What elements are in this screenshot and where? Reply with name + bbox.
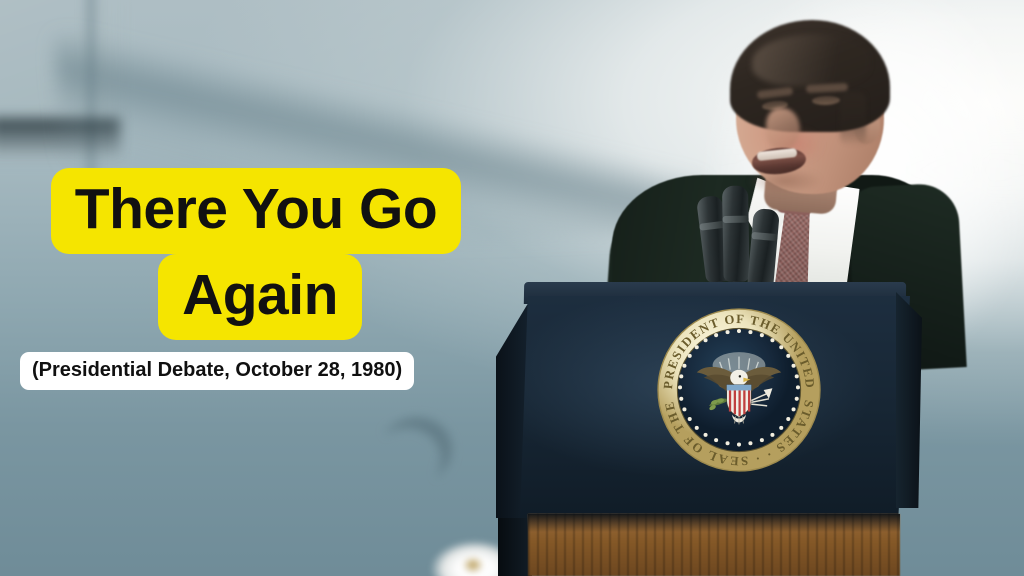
quote-title-line-1: There You Go xyxy=(51,168,461,254)
presidential-seal-icon: PRESIDENT OF THE UNITED STATES · · SEAL … xyxy=(651,302,827,478)
hair-highlight xyxy=(752,34,870,86)
microphone-ring xyxy=(723,216,749,223)
microphone-body xyxy=(722,186,750,282)
quote-attribution: (Presidential Debate, October 28, 1980) xyxy=(20,352,414,390)
chin-shadow xyxy=(748,168,822,194)
podium-base-left xyxy=(498,518,532,576)
podium-right-side xyxy=(896,292,922,508)
podium-wood-shadow xyxy=(528,514,900,532)
quote-title-line-2: Again xyxy=(158,254,362,340)
sideburn xyxy=(840,92,866,146)
nose xyxy=(766,108,800,150)
quote-card-image: PRESIDENT OF THE UNITED STATES · · SEAL … xyxy=(0,0,1024,576)
